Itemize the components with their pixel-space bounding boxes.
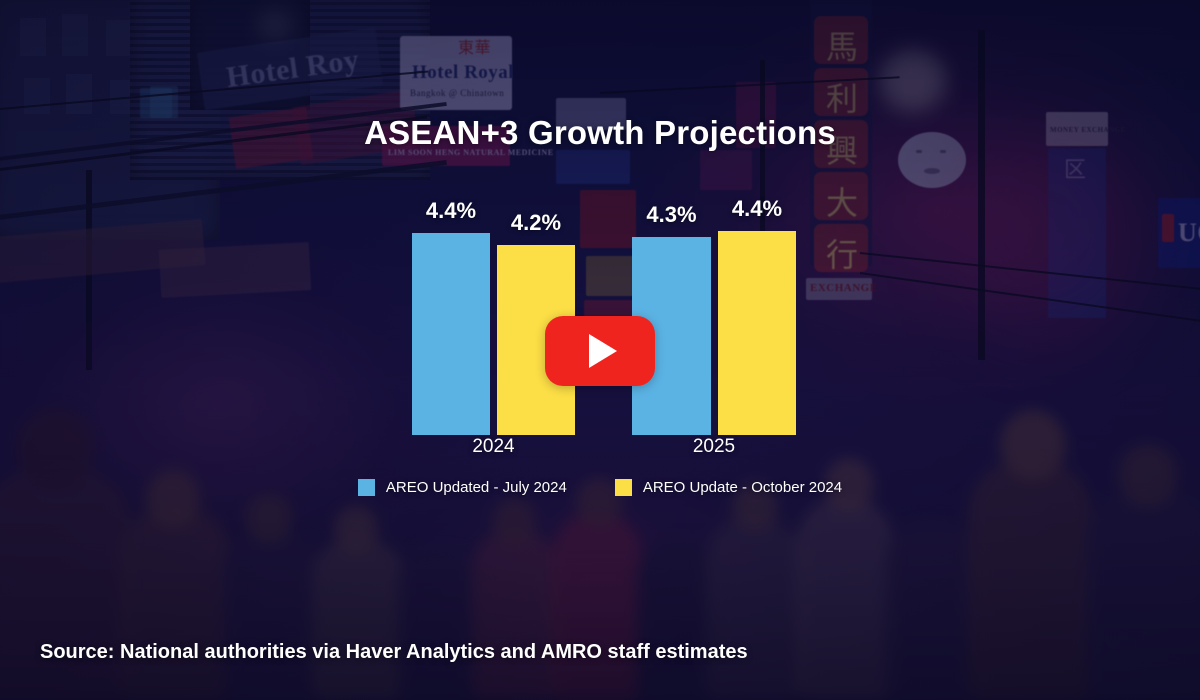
bar-value-2024-july: 4.4% [412,198,490,224]
legend-item-july[interactable]: AREO Updated - July 2024 [358,479,567,496]
youtube-play-icon[interactable] [545,316,655,386]
legend-swatch-blue [358,479,375,496]
legend-label-july: AREO Updated - July 2024 [386,479,567,496]
bar-chart-plot-area [400,190,810,435]
axis-label-2025: 2025 [632,436,796,458]
chart-legend: AREO Updated - July 2024 AREO Update - O… [0,479,1200,496]
video-frame: Hotel Roy Hotel Royal Bangkok @ Chinatow… [0,0,1200,700]
bar-2024-july [412,233,490,435]
bar-value-2025-july: 4.3% [632,202,711,228]
legend-swatch-yellow [615,479,632,496]
axis-label-2024: 2024 [412,436,575,458]
bar-value-2025-october: 4.4% [718,196,796,222]
legend-item-october[interactable]: AREO Update - October 2024 [615,479,842,496]
legend-label-october: AREO Update - October 2024 [643,479,842,496]
chart-title: ASEAN+3 Growth Projections [0,114,1200,152]
bar-2025-october [718,231,796,435]
play-triangle-icon [589,334,617,368]
source-note: Source: National authorities via Haver A… [40,641,748,664]
bar-value-2024-october: 4.2% [497,210,575,236]
